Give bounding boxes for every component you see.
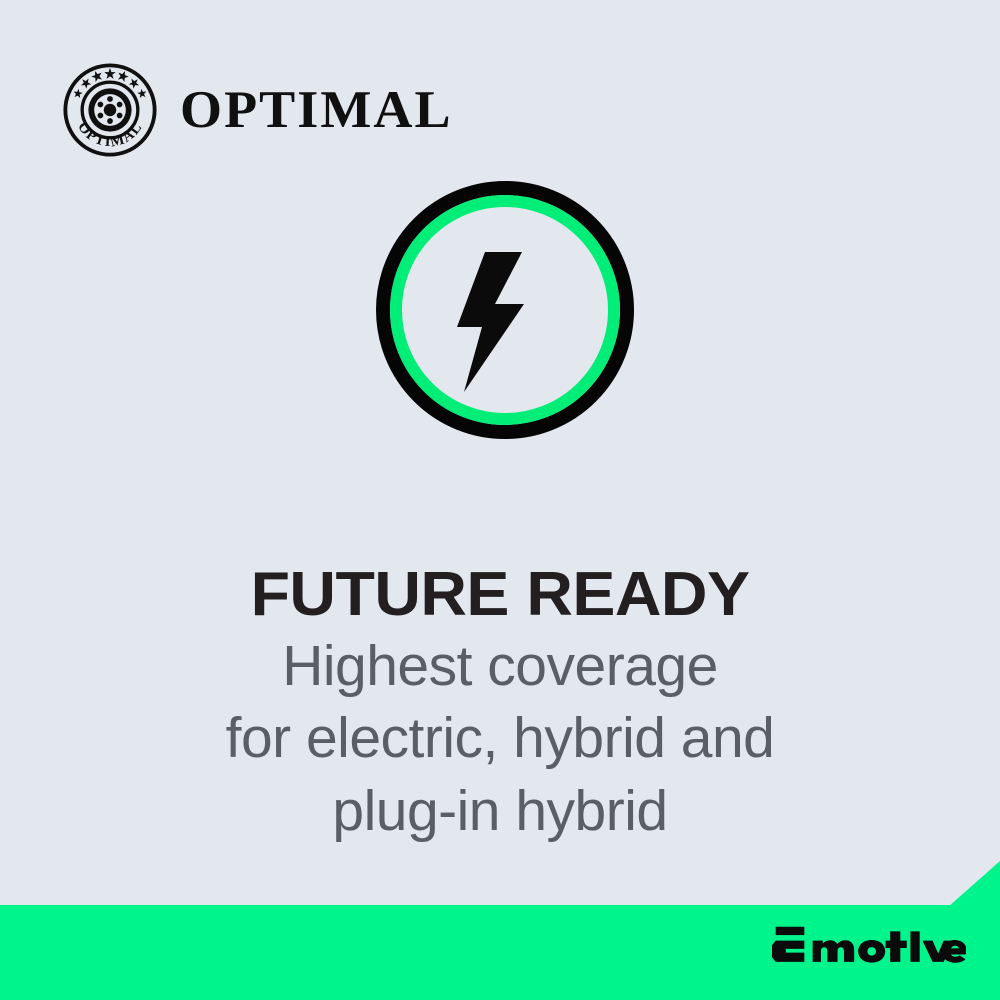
subcopy-line-3: plug-in hybrid <box>0 775 1000 847</box>
page-title: FUTURE READY <box>0 564 1000 626</box>
promo-poster: OPTIMAL OPTIMAL <box>0 0 1000 1000</box>
optimal-wordmark: OPTIMAL <box>180 84 453 137</box>
subcopy-line-1: Highest coverage <box>0 630 1000 702</box>
emotive-wordmark-logo <box>772 924 966 972</box>
lightning-bolt-in-circle-icon <box>376 181 634 439</box>
optimal-brand-lockup: OPTIMAL OPTIMAL <box>62 62 447 158</box>
banner-diagonal-wedge <box>948 861 1000 907</box>
subcopy-block: Highest coverage for electric, hybrid an… <box>0 630 1000 847</box>
subcopy-line-2: for electric, hybrid and <box>0 702 1000 774</box>
bearing-badge-icon: OPTIMAL <box>62 62 158 158</box>
